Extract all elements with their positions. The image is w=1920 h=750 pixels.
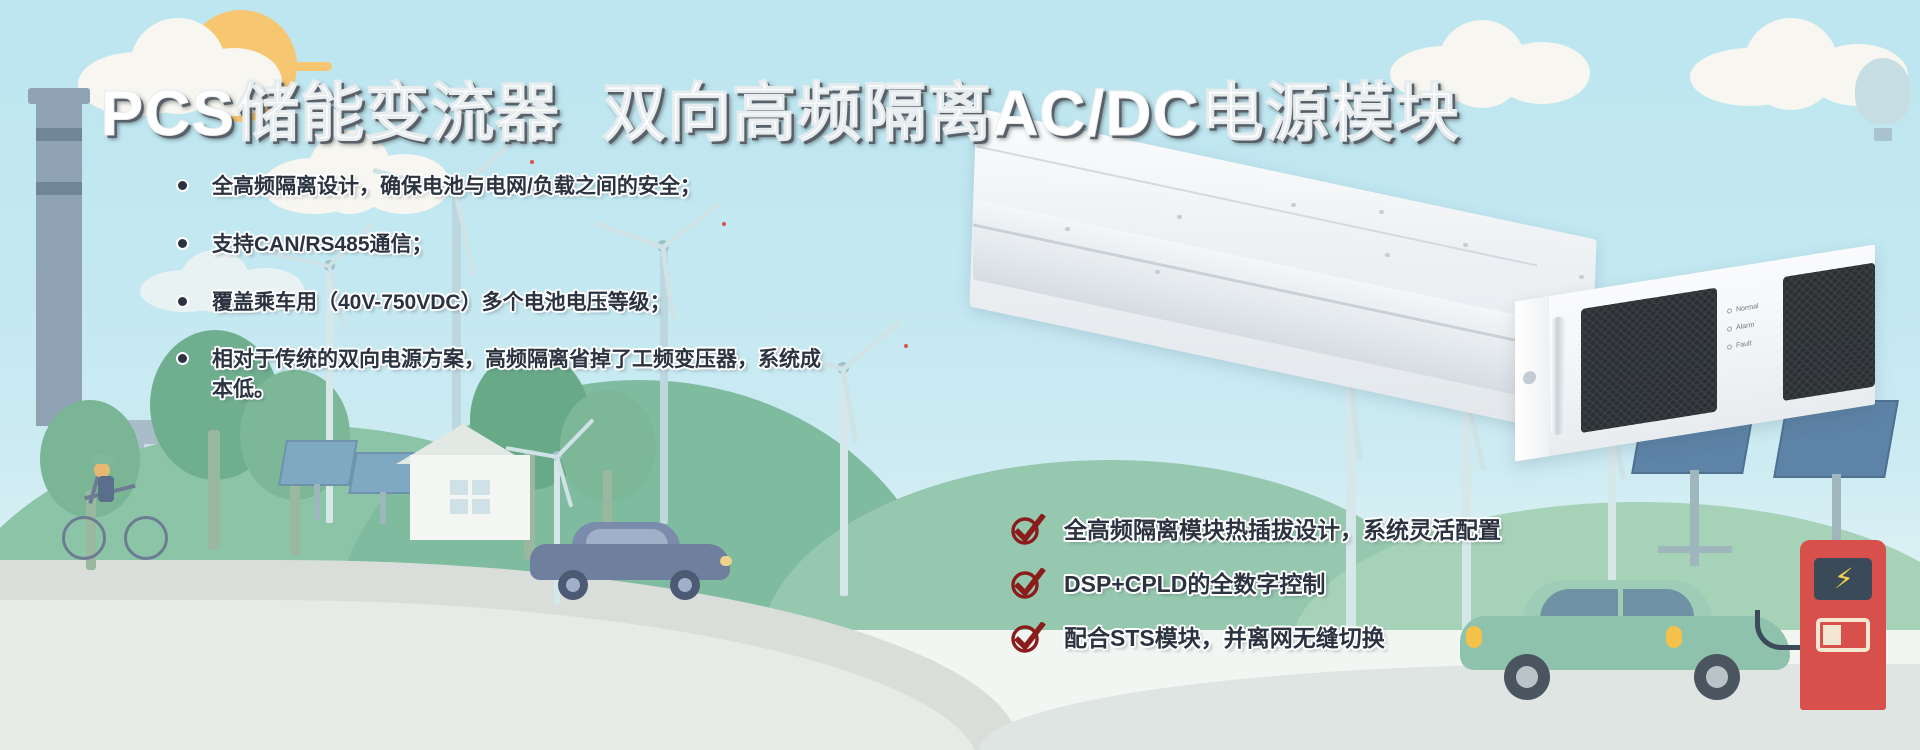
highlight-text: 全高频隔离模块热插拔设计，系统灵活配置 <box>1064 517 1501 543</box>
bullet-dot-icon <box>178 181 187 190</box>
led-label: Fault <box>1736 340 1752 349</box>
bullet-dot-icon <box>178 297 187 306</box>
battery-icon <box>1816 618 1870 652</box>
led-label: Alarm <box>1736 322 1754 332</box>
car-wheel <box>558 570 588 600</box>
led-dot-icon <box>1727 308 1732 314</box>
highlight-text: 配合STS模块，并离网无缝切换 <box>1064 625 1385 651</box>
feature-text: 支持CAN/RS485通信； <box>212 233 433 256</box>
device-handle[interactable] <box>1551 316 1565 436</box>
highlight-list-item: DSP+CPLD的全数字控制 <box>1010 570 1750 600</box>
title-part-2: 双向高频隔离AC/DC电源模块 <box>602 77 1460 149</box>
feature-list-item: 相对于传统的双向电源方案，高频隔离省掉了工频变压器，系统成本低。 <box>176 345 826 405</box>
led-dot-icon <box>1727 326 1732 332</box>
product-image-pcs-module: Normal Alarm Fault <box>955 165 1695 445</box>
feature-list: 全高频隔离设计，确保电池与电网/负载之间的安全； 支持CAN/RS485通信； … <box>176 172 966 419</box>
highlight-list-item: 配合STS模块，并离网无缝切换 <box>1010 624 1750 654</box>
led-indicator-alarm: Alarm <box>1727 322 1754 333</box>
ev-charging-station: ⚡ <box>1800 540 1886 710</box>
device-screw <box>1177 215 1182 219</box>
led-dot-icon <box>1727 344 1732 350</box>
car-headlight <box>720 556 732 566</box>
bullet-dot-icon <box>178 354 187 363</box>
feature-text: 相对于传统的双向电源方案，高频隔离省掉了工频变压器，系统成本低。 <box>212 348 821 401</box>
feature-list-item: 支持CAN/RS485通信； <box>176 230 966 260</box>
device-screw <box>1065 227 1070 231</box>
device-screw <box>1463 243 1468 247</box>
feature-list-item: 全高频隔离设计，确保电池与电网/负载之间的安全； <box>176 172 966 202</box>
lightning-bolt-icon: ⚡ <box>1834 564 1854 594</box>
check-circle-icon <box>1010 622 1046 654</box>
check-circle-icon <box>1010 514 1046 546</box>
marketing-banner: ⚡ Normal Alarm F <box>0 0 1920 750</box>
device-screw <box>1579 275 1584 279</box>
bullet-dot-icon <box>178 239 187 248</box>
led-label: Normal <box>1736 303 1759 314</box>
car-body <box>530 544 730 580</box>
highlight-list-item: 全高频隔离模块热插拔设计，系统灵活配置 <box>1010 516 1750 546</box>
led-indicator-normal: Normal <box>1727 303 1759 315</box>
device-vent-grille <box>1783 262 1875 401</box>
highlight-list: 全高频隔离模块热插拔设计，系统灵活配置 DSP+CPLD的全数字控制 配合STS… <box>1010 516 1750 678</box>
device-screw <box>1385 253 1390 257</box>
feature-text: 全高频隔离设计，确保电池与电网/负载之间的安全； <box>212 175 701 198</box>
device-screw <box>1155 270 1160 274</box>
car <box>530 520 730 590</box>
device-vent-grille <box>1581 288 1717 434</box>
check-circle-icon <box>1010 568 1046 600</box>
highlight-text: DSP+CPLD的全数字控制 <box>1064 571 1325 597</box>
page-title: PCS储能变流器双向高频隔离AC/DC电源模块 <box>0 62 1560 154</box>
car-wheel <box>670 570 700 600</box>
led-indicator-fault: Fault <box>1727 340 1752 351</box>
feature-text: 覆盖乘车用（40V-750VDC）多个电池电压等级； <box>212 291 671 314</box>
title-part-1: PCS储能变流器 <box>100 77 560 149</box>
device-screw <box>1379 210 1384 214</box>
cyclist <box>62 470 182 560</box>
device-screw <box>1291 203 1296 207</box>
feature-list-item: 覆盖乘车用（40V-750VDC）多个电池电压等级； <box>176 288 966 318</box>
